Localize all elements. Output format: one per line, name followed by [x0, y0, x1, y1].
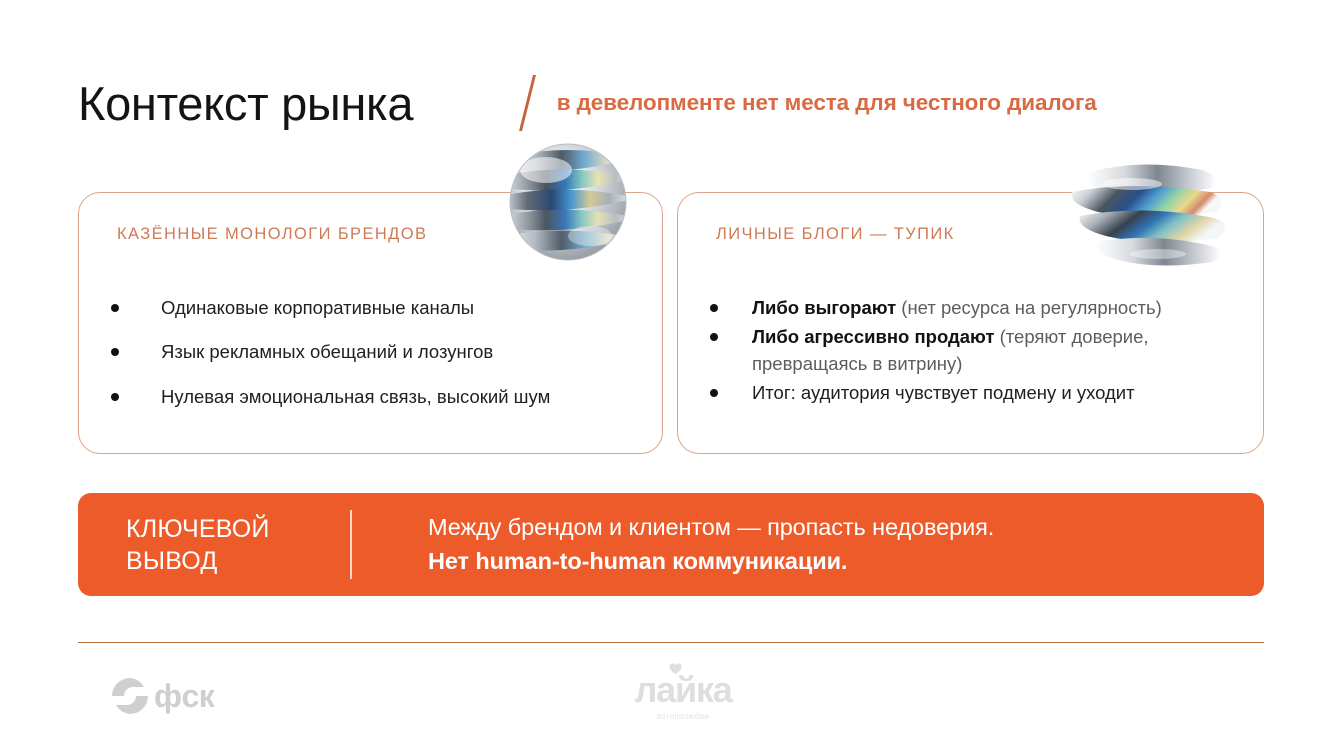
page-title: Контекст рынка: [78, 80, 413, 127]
list-item: Либо выгорают (нет ресурса на регулярнос…: [710, 295, 1245, 321]
bullet-list: Либо выгорают (нет ресурса на регулярнос…: [710, 295, 1245, 409]
list-item: Одинаковые корпоративные каналы: [111, 295, 644, 321]
logo-laika-tagline: #этополюбви: [618, 712, 748, 721]
bullet-dot-icon: [710, 304, 718, 312]
list-item-note: (нет ресурса на регулярность): [896, 297, 1162, 318]
slide-subtitle: в девелопменте нет места для честного ди…: [557, 90, 1097, 116]
banner-line-2: Нет human-to-human коммуникации.: [428, 545, 994, 578]
card-heading: ЛИЧНЫЕ БЛОГИ — ТУПИК: [716, 225, 955, 244]
list-item-strong: Либо агрессивно продают: [752, 326, 994, 347]
logo-laika: лайка #этополюбви: [618, 672, 748, 721]
logo-fsk: фск: [110, 676, 214, 716]
bullet-dot-icon: [710, 389, 718, 397]
banner-text: Между брендом и клиентом — пропасть недо…: [428, 511, 994, 578]
bullet-dot-icon: [710, 333, 718, 341]
list-item: Либо агрессивно продают (теряют доверие,…: [710, 324, 1245, 377]
list-item: Итог: аудитория чувствует подмену и уход…: [710, 380, 1245, 406]
card-personal-blogs: ЛИЧНЫЕ БЛОГИ — ТУПИК Либо выгорают (нет …: [677, 192, 1264, 454]
fsk-swirl-icon: [110, 676, 150, 716]
list-item-label: Итог: аудитория чувствует подмену и уход…: [752, 380, 1135, 406]
list-item-label: Либо выгорают (нет ресурса на регулярнос…: [752, 295, 1162, 321]
key-conclusion-banner: КЛЮЧЕВОЙ ВЫВОД Между брендом и клиентом …: [78, 493, 1264, 596]
banner-label: КЛЮЧЕВОЙ ВЫВОД: [126, 513, 350, 577]
banner-line-1: Между брендом и клиентом — пропасть недо…: [428, 511, 994, 544]
slash-separator-icon: [519, 75, 535, 131]
bullet-list: Одинаковые корпоративные каналы Язык рек…: [111, 295, 644, 428]
list-item-strong: Либо выгорают: [752, 297, 896, 318]
list-item: Язык рекламных обещаний и лозунгов: [111, 339, 644, 365]
list-item-label: Либо агрессивно продают (теряют доверие,…: [752, 324, 1245, 377]
bullet-dot-icon: [111, 304, 119, 312]
list-item-label: Одинаковые корпоративные каналы: [161, 295, 474, 321]
logo-fsk-text: фск: [154, 680, 214, 712]
logo-laika-text: лайка: [618, 672, 748, 708]
card-corporate-monologues: КАЗЁННЫЕ МОНОЛОГИ БРЕНДОВ Одинаковые кор…: [78, 192, 663, 454]
list-item: Нулевая эмоциональная связь, высокий шум: [111, 384, 644, 410]
card-heading: КАЗЁННЫЕ МОНОЛОГИ БРЕНДОВ: [117, 225, 427, 244]
list-item-label: Нулевая эмоциональная связь, высокий шум: [161, 384, 550, 410]
list-item-label: Язык рекламных обещаний и лозунгов: [161, 339, 493, 365]
bullet-dot-icon: [111, 348, 119, 356]
heart-icon: [669, 663, 682, 675]
banner-divider: [350, 510, 352, 579]
bullet-dot-icon: [111, 393, 119, 401]
footer-divider: [78, 642, 1264, 643]
slide: Контекст рынка в девелопменте нет места …: [0, 0, 1340, 754]
slide-header: Контекст рынка в девелопменте нет места …: [78, 68, 1268, 138]
